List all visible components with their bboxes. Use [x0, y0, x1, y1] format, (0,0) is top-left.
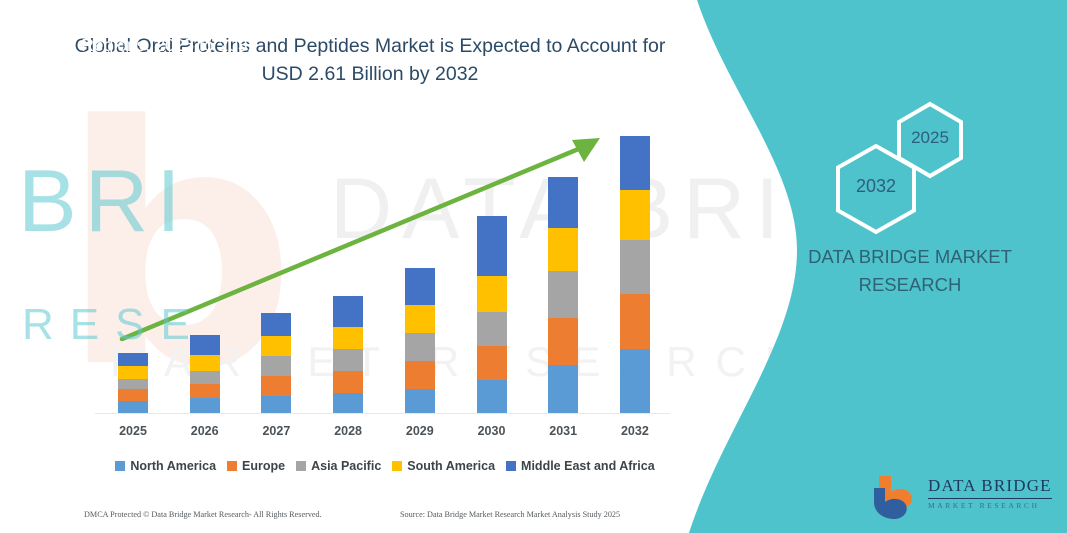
- bar-segment: [190, 384, 220, 398]
- legend-swatch-icon: [227, 461, 237, 471]
- legend-label: Middle East and Africa: [521, 459, 655, 473]
- x-axis-tick-label: 2025: [97, 424, 169, 438]
- legend-label: South America: [407, 459, 495, 473]
- stacked-bar: [620, 136, 650, 413]
- x-axis-tick-label: 2026: [169, 424, 241, 438]
- stacked-bar: [190, 335, 220, 413]
- legend-swatch-icon: [506, 461, 516, 471]
- legend-label: Asia Pacific: [311, 459, 381, 473]
- x-axis-tick-label: 2031: [527, 424, 599, 438]
- bar-segment: [261, 356, 291, 376]
- x-axis-tick-label: 2029: [384, 424, 456, 438]
- bar-segment: [620, 190, 650, 240]
- legend-label: Europe: [242, 459, 285, 473]
- logo-text-block: DATA BRIDGE MARKET RESEARCH: [928, 476, 1052, 510]
- bar-segment: [333, 327, 363, 349]
- panel-brand-name: DATA BRIDGE MARKET RESEARCH: [760, 243, 1060, 299]
- legend-swatch-icon: [115, 461, 125, 471]
- stacked-bar: [261, 313, 291, 413]
- stacked-bar-group: [0, 0, 700, 470]
- stacked-bar: [548, 177, 578, 413]
- bar-segment: [477, 312, 507, 346]
- bar-segment: [405, 361, 435, 389]
- chart-plot-area: 20252026202720282029203020312032 North A…: [0, 0, 700, 470]
- bar-segment: [190, 355, 220, 371]
- stacked-bar: [477, 216, 507, 413]
- bar-segment: [405, 389, 435, 413]
- stacked-bar: [333, 296, 363, 413]
- bar-segment: [405, 268, 435, 305]
- hexagon-badge-start-year: 2025: [890, 100, 970, 185]
- legend-item[interactable]: Asia Pacific: [296, 459, 381, 473]
- panel-title: Global Oral Proteins and Peptides Market…: [56, 8, 386, 58]
- bar-segment: [548, 271, 578, 318]
- bar-segment: [620, 136, 650, 190]
- legend-swatch-icon: [296, 461, 306, 471]
- logo-company-name: DATA BRIDGE: [928, 476, 1052, 499]
- stacked-bar: [118, 353, 148, 413]
- x-axis-labels: 20252026202720282029203020312032: [95, 424, 675, 446]
- legend-label: North America: [130, 459, 216, 473]
- bar-segment: [261, 313, 291, 336]
- chart-legend: North AmericaEuropeAsia PacificSouth Ame…: [95, 455, 675, 477]
- bar-segment: [620, 349, 650, 413]
- bar-segment: [548, 318, 578, 365]
- bar-segment: [190, 398, 220, 413]
- databridge-logo-icon: [872, 474, 924, 520]
- bar-segment: [477, 380, 507, 413]
- bar-segment: [333, 296, 363, 327]
- x-axis-tick-label: 2030: [456, 424, 528, 438]
- bar-segment: [261, 396, 291, 413]
- bar-segment: [333, 393, 363, 413]
- bar-segment: [118, 353, 148, 366]
- bar-segment: [548, 228, 578, 271]
- bar-segment: [477, 216, 507, 276]
- bar-segment: [620, 240, 650, 294]
- legend-item[interactable]: North America: [115, 459, 216, 473]
- stacked-bar: [405, 268, 435, 413]
- logo-company-subtitle: MARKET RESEARCH: [928, 501, 1052, 510]
- bar-segment: [190, 335, 220, 355]
- x-axis-tick-label: 2032: [599, 424, 671, 438]
- legend-item[interactable]: South America: [392, 459, 495, 473]
- legend-swatch-icon: [392, 461, 402, 471]
- footer-source-text: Source: Data Bridge Market Research Mark…: [400, 510, 620, 519]
- bar-segment: [261, 376, 291, 396]
- bar-segment: [548, 365, 578, 413]
- footer: DMCA Protected © Data Bridge Market Rese…: [0, 505, 700, 529]
- bar-segment: [118, 366, 148, 379]
- bar-segment: [118, 401, 148, 413]
- bar-segment: [405, 305, 435, 333]
- bar-segment: [118, 389, 148, 401]
- bar-segment: [118, 379, 148, 389]
- bar-segment: [333, 349, 363, 371]
- hexagon-start-year-label: 2025: [890, 128, 970, 148]
- company-logo: DATA BRIDGE MARKET RESEARCH: [872, 474, 1052, 520]
- legend-item[interactable]: Europe: [227, 459, 285, 473]
- x-axis-line: [95, 413, 670, 414]
- x-axis-tick-label: 2027: [240, 424, 312, 438]
- bar-segment: [620, 294, 650, 349]
- panel-brand-line1: DATA BRIDGE MARKET: [760, 243, 1060, 271]
- bar-segment: [477, 276, 507, 312]
- panel-brand-line2: RESEARCH: [760, 271, 1060, 299]
- bar-segment: [405, 333, 435, 361]
- footer-dmca-text: DMCA Protected © Data Bridge Market Rese…: [84, 510, 322, 519]
- legend-item[interactable]: Middle East and Africa: [506, 459, 655, 473]
- bar-segment: [261, 336, 291, 356]
- bar-segment: [333, 371, 363, 393]
- x-axis-tick-label: 2028: [312, 424, 384, 438]
- bar-segment: [190, 371, 220, 384]
- bar-segment: [477, 346, 507, 380]
- bar-segment: [548, 177, 578, 228]
